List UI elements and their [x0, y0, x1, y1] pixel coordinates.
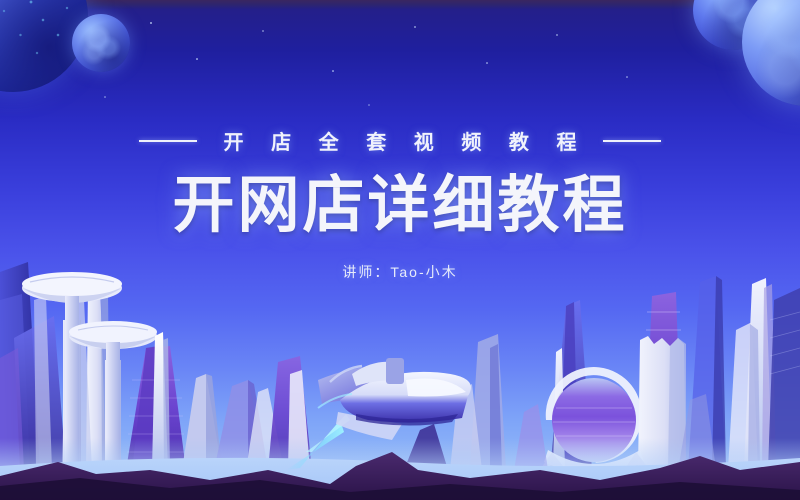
- rule-right: [603, 140, 661, 142]
- page-title: 开网店详细教程: [0, 169, 800, 242]
- title-group: 开 店 全 套 视 频 教 程 开网店详细教程 讲师：Tao-小木: [0, 126, 800, 282]
- subtitle-row: 开 店 全 套 视 频 教 程: [0, 126, 800, 155]
- presenter-label: 讲师：Tao-小木: [0, 262, 800, 282]
- rule-left: [139, 140, 197, 142]
- subtitle-text: 开 店 全 套 视 频 教 程: [213, 126, 588, 155]
- presentation-slide: 开 店 全 套 视 频 教 程 开网店详细教程 讲师：Tao-小木: [0, 0, 800, 500]
